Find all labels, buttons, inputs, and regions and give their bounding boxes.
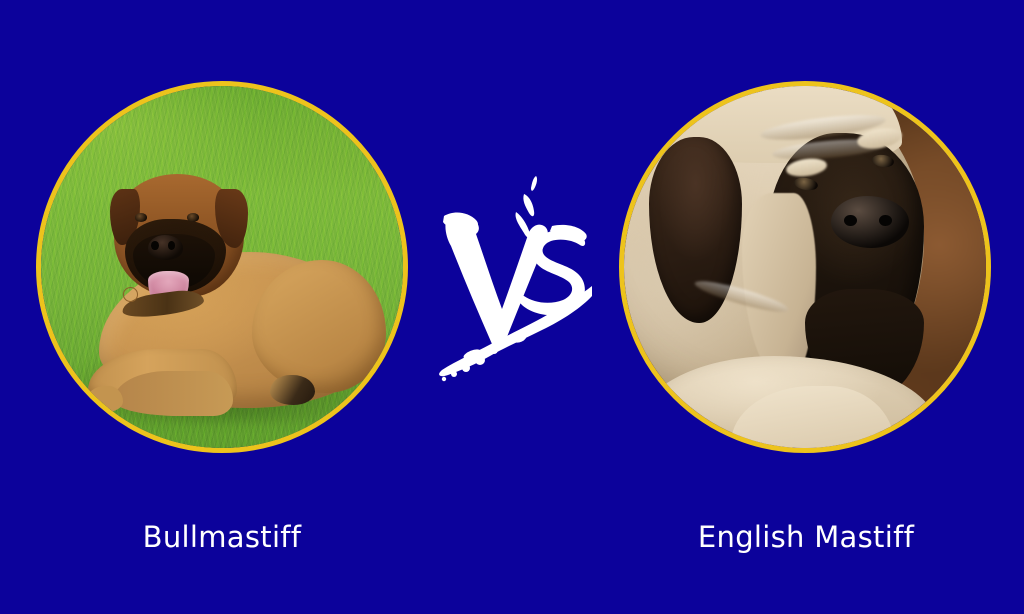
dog-foreleg-far	[114, 371, 233, 416]
dog-hind-paw	[270, 375, 315, 405]
dog-nostril-left	[151, 241, 158, 250]
versus-card-canvas: Bullmastiff English Mastiff	[0, 0, 1024, 614]
english-mastiff-photo	[619, 81, 991, 453]
contender-left-portrait[interactable]	[36, 81, 408, 453]
dog-front-paw	[86, 386, 123, 412]
contender-right-label: English Mastiff	[580, 520, 1024, 554]
contender-left-label: Bullmastiff	[0, 520, 444, 554]
contender-right-portrait[interactable]	[619, 81, 991, 453]
dog-eye-left	[135, 213, 148, 222]
dog-eye-right	[187, 213, 200, 222]
dog-nostril-right	[879, 215, 892, 226]
dog-nose	[831, 196, 909, 248]
vs-separator	[432, 172, 592, 388]
vs-brush-icon	[439, 176, 592, 381]
dog-nostril-left	[844, 215, 857, 226]
bullmastiff-photo	[36, 81, 408, 453]
